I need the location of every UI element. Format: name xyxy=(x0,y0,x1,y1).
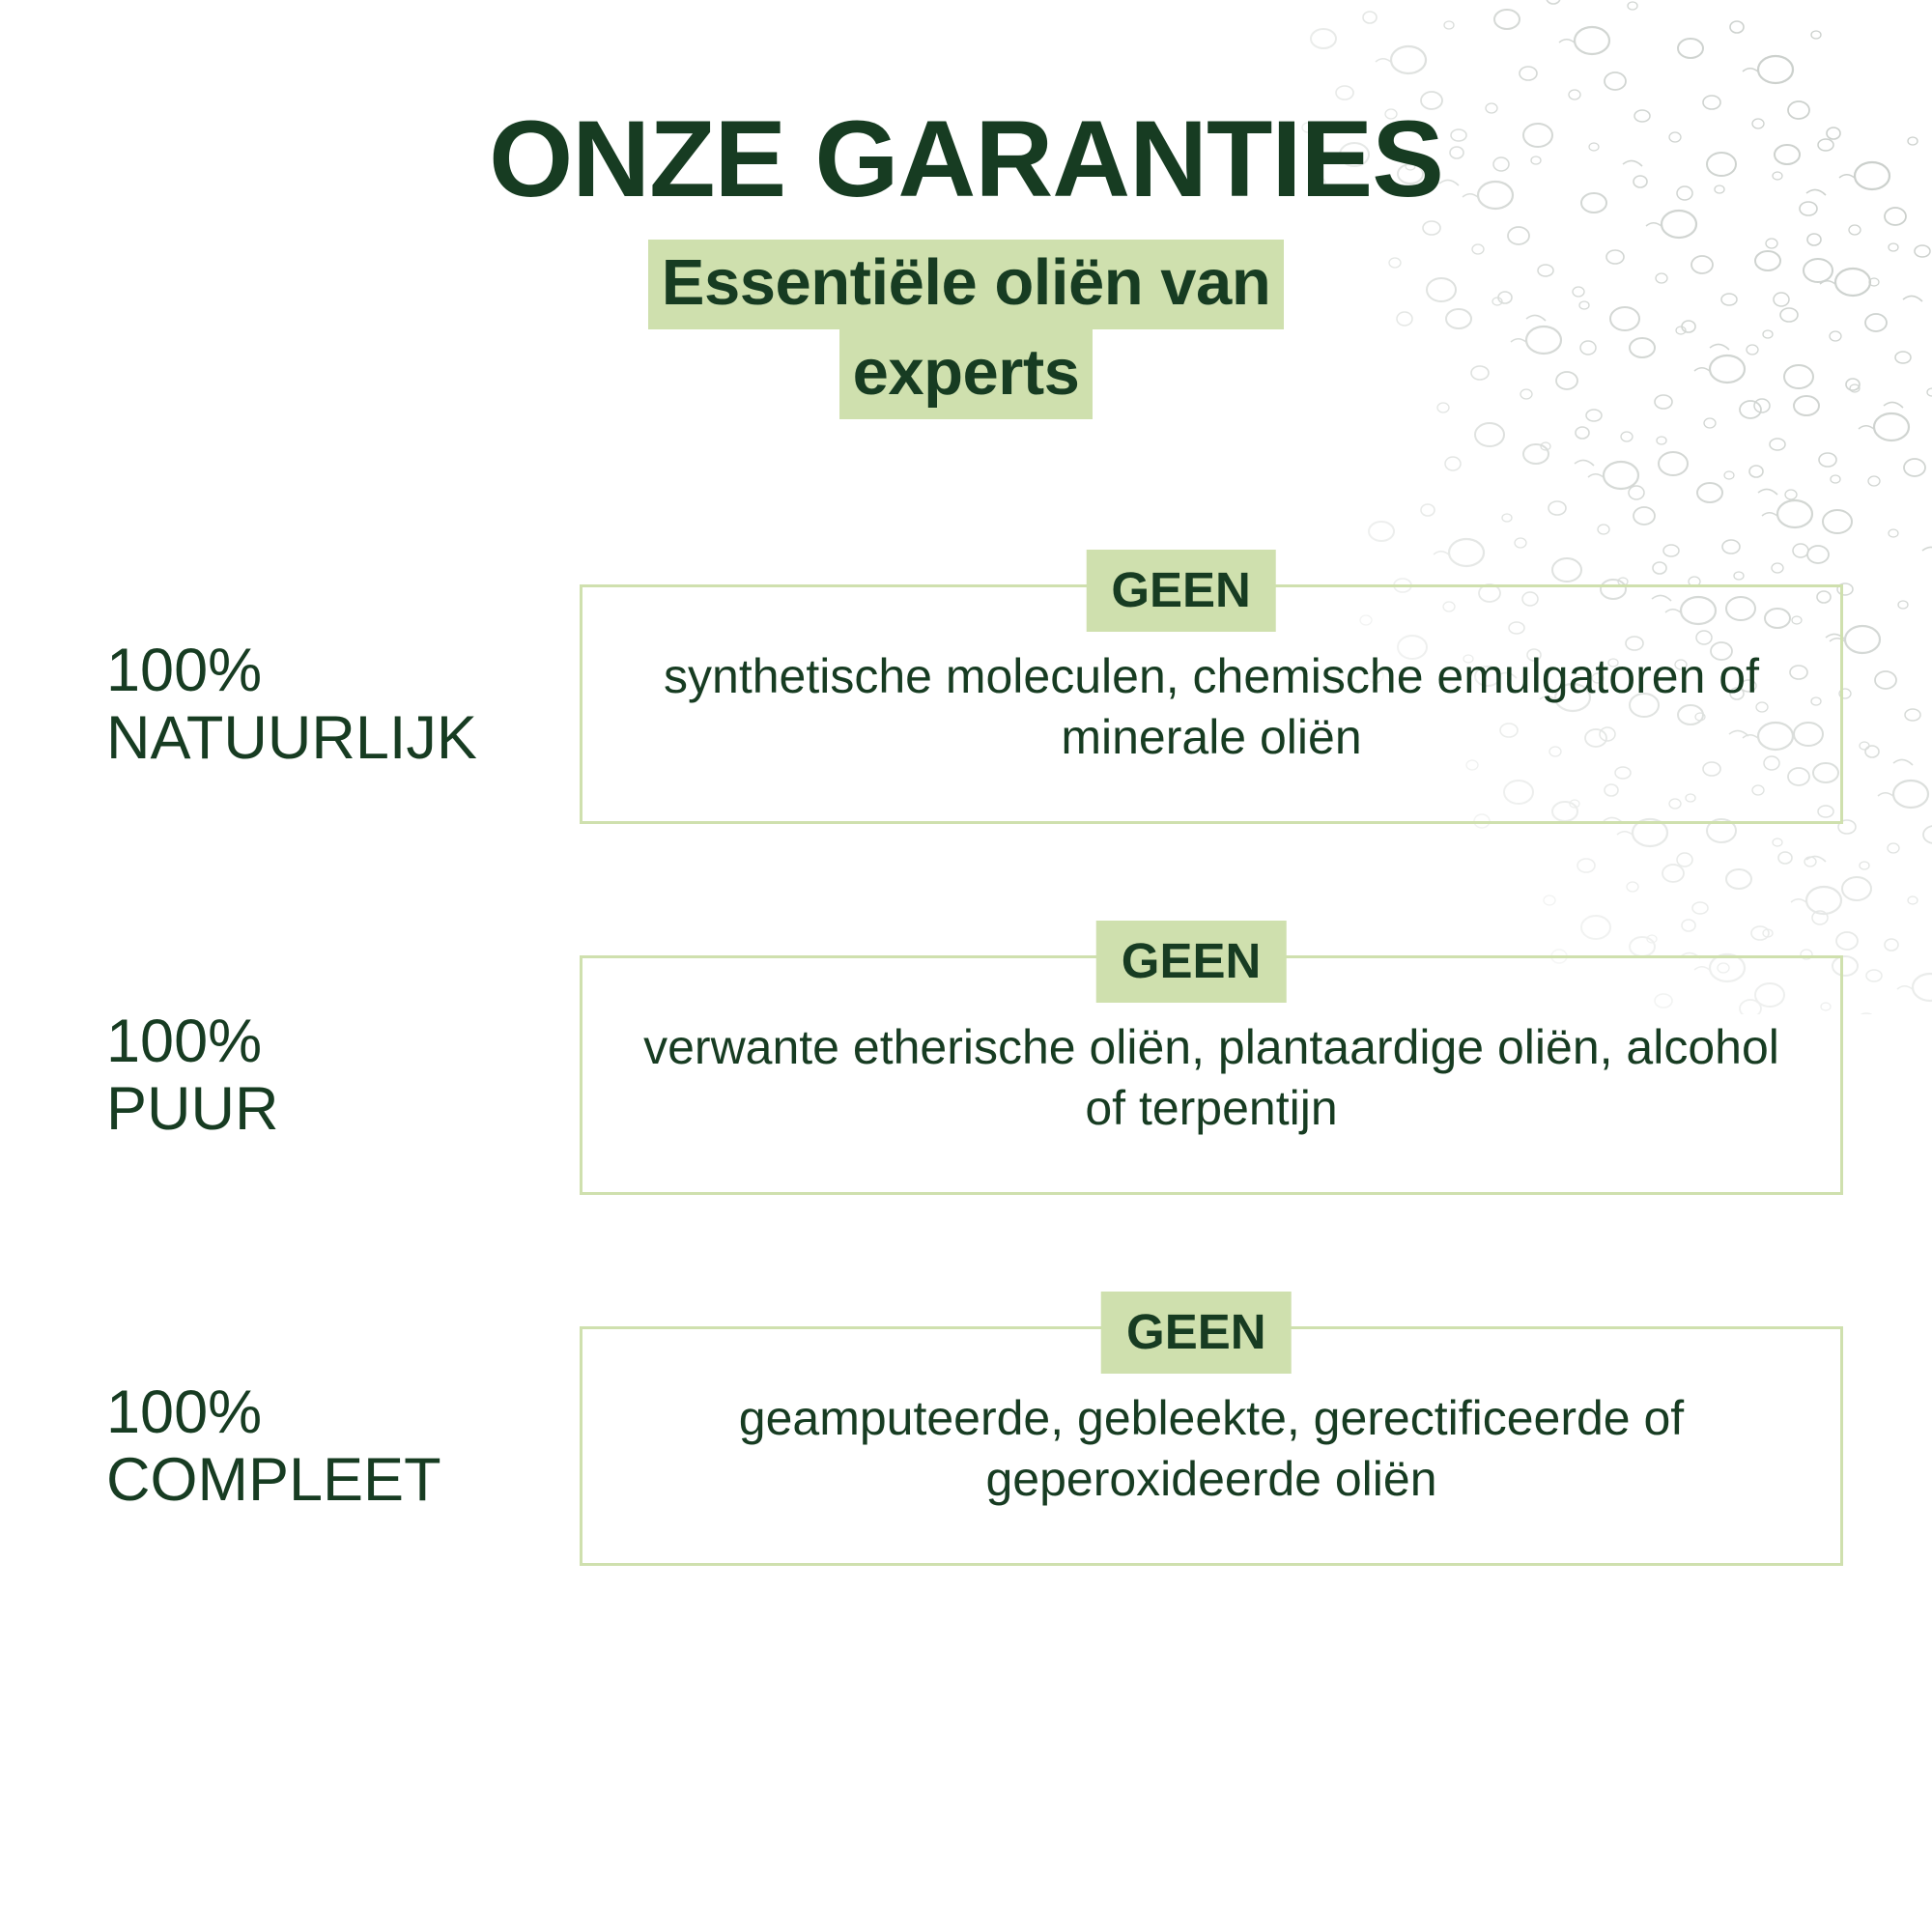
guarantee-row-compleet: 100% COMPLEET GEEN geamputeerde, gebleek… xyxy=(0,1301,1932,1591)
guarantee-keyword: PUUR xyxy=(106,1075,580,1144)
status-badge: GEEN xyxy=(1096,921,1287,1003)
subtitle-line-1: Essentiële oliën van xyxy=(648,240,1285,329)
guarantee-label: 100% COMPLEET xyxy=(0,1378,580,1515)
guarantee-box-wrapper: GEEN geamputeerde, gebleekte, gerectific… xyxy=(580,1326,1843,1566)
guarantee-box-wrapper: GEEN synthetische moleculen, chemische e… xyxy=(580,584,1843,824)
guarantee-label: 100% PUUR xyxy=(0,1008,580,1144)
guarantee-label: 100% NATUURLIJK xyxy=(0,637,580,773)
poster-root: ONZE GARANTIES Essentiële oliën van expe… xyxy=(0,0,1932,1932)
poster-header: ONZE GARANTIES Essentiële oliën van expe… xyxy=(0,0,1932,419)
guarantee-row-natuurlijk: 100% NATUURLIJK GEEN synthetische molecu… xyxy=(0,559,1932,849)
guarantee-percent: 100% xyxy=(106,1378,580,1447)
guarantee-body-text: synthetische moleculen, chemische emulga… xyxy=(619,646,1804,768)
guarantee-percent: 100% xyxy=(106,637,580,705)
guarantee-row-puur: 100% PUUR GEEN verwante etherische oliën… xyxy=(0,930,1932,1220)
guarantee-percent: 100% xyxy=(106,1008,580,1076)
guarantee-body-text: geamputeerde, gebleekte, gerectificeerde… xyxy=(619,1388,1804,1510)
guarantee-keyword: NATUURLIJK xyxy=(106,704,580,773)
guarantee-keyword: COMPLEET xyxy=(106,1446,580,1515)
status-badge: GEEN xyxy=(1101,1292,1292,1374)
guarantee-list: 100% NATUURLIJK GEEN synthetische molecu… xyxy=(0,559,1932,1591)
guarantee-body-text: verwante etherische oliën, plantaardige … xyxy=(619,1017,1804,1139)
page-title: ONZE GARANTIES xyxy=(0,104,1932,214)
subtitle-line-2: experts xyxy=(839,329,1094,419)
guarantee-box-wrapper: GEEN verwante etherische oliën, plantaar… xyxy=(580,955,1843,1195)
status-badge: GEEN xyxy=(1086,550,1276,632)
subtitle-block: Essentiële oliën van experts xyxy=(0,240,1932,419)
